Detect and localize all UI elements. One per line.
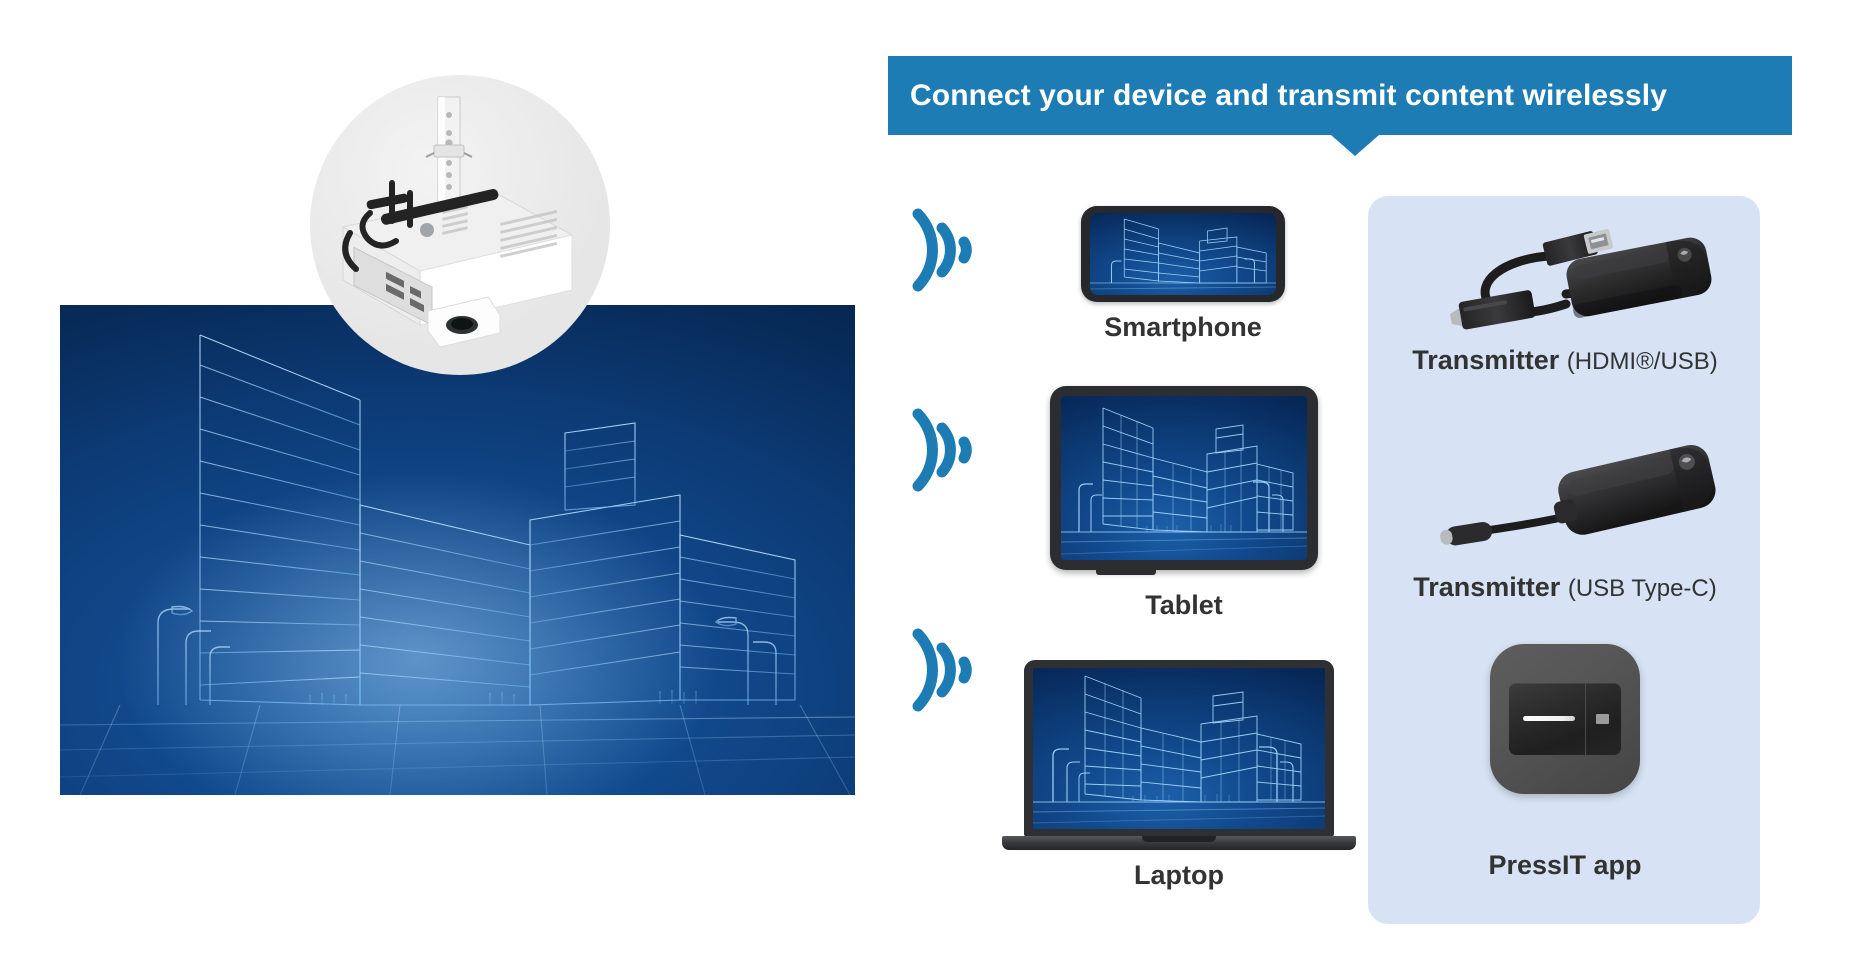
- device-label-laptop: Laptop: [1079, 860, 1279, 891]
- wifi-signal-icon: [900, 200, 986, 300]
- smartphone-screen-art: [1090, 213, 1276, 295]
- app-icon-glyph: [1596, 714, 1609, 724]
- app-icon-divider: [1585, 683, 1586, 755]
- device-label-smartphone: Smartphone: [1083, 312, 1283, 343]
- wifi-signal-icon: [900, 620, 986, 720]
- headline-text: Connect your device and transmit content…: [888, 79, 1667, 113]
- ceiling-projector-icon: [310, 75, 610, 375]
- panel-label-pressit-app: PressIT app: [1465, 850, 1665, 881]
- tablet-device: [1050, 386, 1318, 570]
- pressit-app-icon: [1490, 644, 1640, 794]
- wifi-signal-icon: [900, 400, 986, 500]
- laptop-trackpad-notch: [1142, 836, 1216, 842]
- transmitter-usb-c-icon: [1440, 425, 1720, 555]
- projected-screen-image: [60, 305, 855, 795]
- device-label-tablet: Tablet: [1084, 590, 1284, 621]
- app-icon-bar: [1523, 716, 1575, 721]
- laptop-device: [1024, 660, 1334, 837]
- panel-label-transmitter-usbc: Transmitter (USB Type-C): [1395, 572, 1735, 603]
- panel-label-light: (USB Type-C): [1568, 575, 1717, 602]
- wireframe-building-art: [60, 305, 855, 795]
- diagram-canvas: Connect your device and transmit content…: [0, 0, 1852, 972]
- banner-pointer-tail: [1331, 135, 1379, 156]
- panel-label-light: (HDMI®/USB): [1567, 348, 1718, 375]
- panel-label-bold: Transmitter: [1412, 345, 1559, 375]
- tablet-home-indicator: [1096, 570, 1156, 575]
- headline-banner: Connect your device and transmit content…: [888, 56, 1792, 135]
- smartphone-device: [1081, 206, 1285, 302]
- projector-photo-bubble: [310, 75, 610, 375]
- tablet-screen-art: [1061, 396, 1307, 560]
- panel-label-transmitter-hdmi: Transmitter (HDMI®/USB): [1400, 345, 1730, 376]
- panel-label-bold: Transmitter: [1413, 572, 1560, 602]
- app-icon-button-graphic: [1509, 683, 1621, 755]
- transmitter-hdmi-usb-icon: [1440, 198, 1720, 338]
- laptop-screen-art: [1033, 668, 1325, 829]
